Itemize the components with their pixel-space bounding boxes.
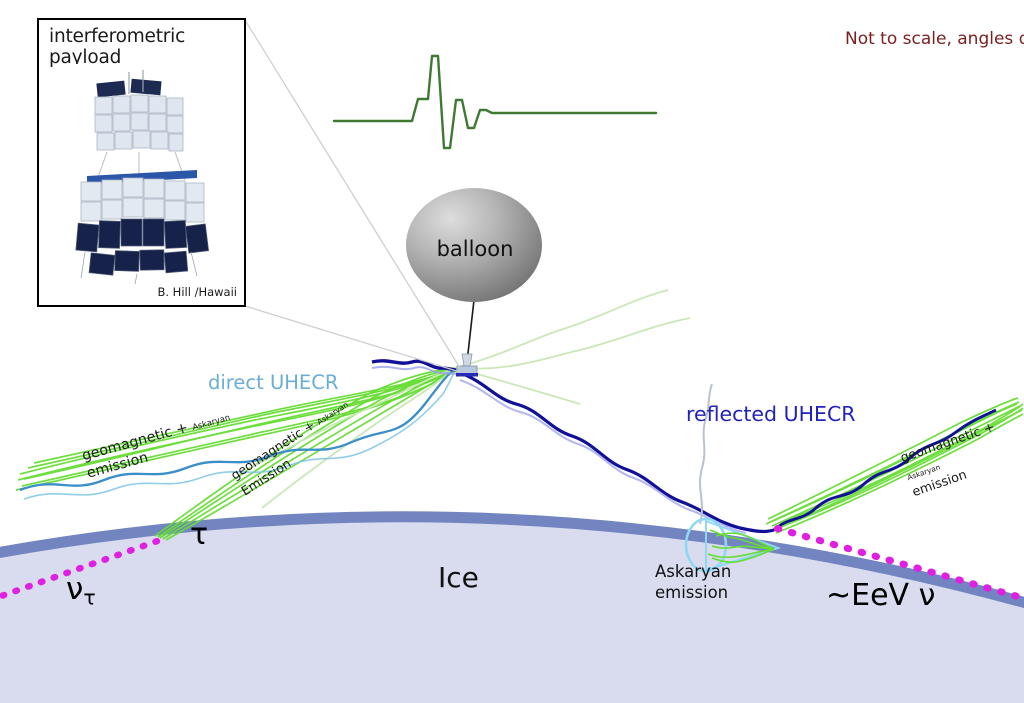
not-to-scale-notice: Not to scale, angles don't reflect reali… — [845, 28, 1015, 52]
ice-label: Ice — [438, 561, 479, 594]
askaryan-emission-line1: Askaryan — [655, 561, 731, 582]
nu-symbol: ν — [66, 571, 83, 607]
tau-neutrino-label: ντ — [66, 571, 96, 610]
askaryan-emission-line2: emission — [655, 582, 731, 603]
payload-photograph — [57, 64, 233, 286]
eev-neutrino-label: ~EeV ν — [826, 578, 935, 613]
direct-uhecr-label: direct UHECR — [208, 371, 338, 394]
reflected-uhecr-label: reflected UHECR — [686, 402, 856, 426]
tau-subscript: τ — [83, 586, 95, 610]
tau-lepton-label: τ — [190, 517, 208, 552]
inset-credit: B. Hill /Hawaii — [157, 285, 237, 299]
balloon-label: balloon — [418, 237, 532, 261]
inset-title: interferometric payload — [49, 26, 239, 68]
askaryan-emission-label: Askaryan emission — [655, 561, 731, 603]
figure-canvas: interferometric payload — [0, 0, 1024, 703]
payload-inset-panel: interferometric payload — [37, 18, 246, 307]
